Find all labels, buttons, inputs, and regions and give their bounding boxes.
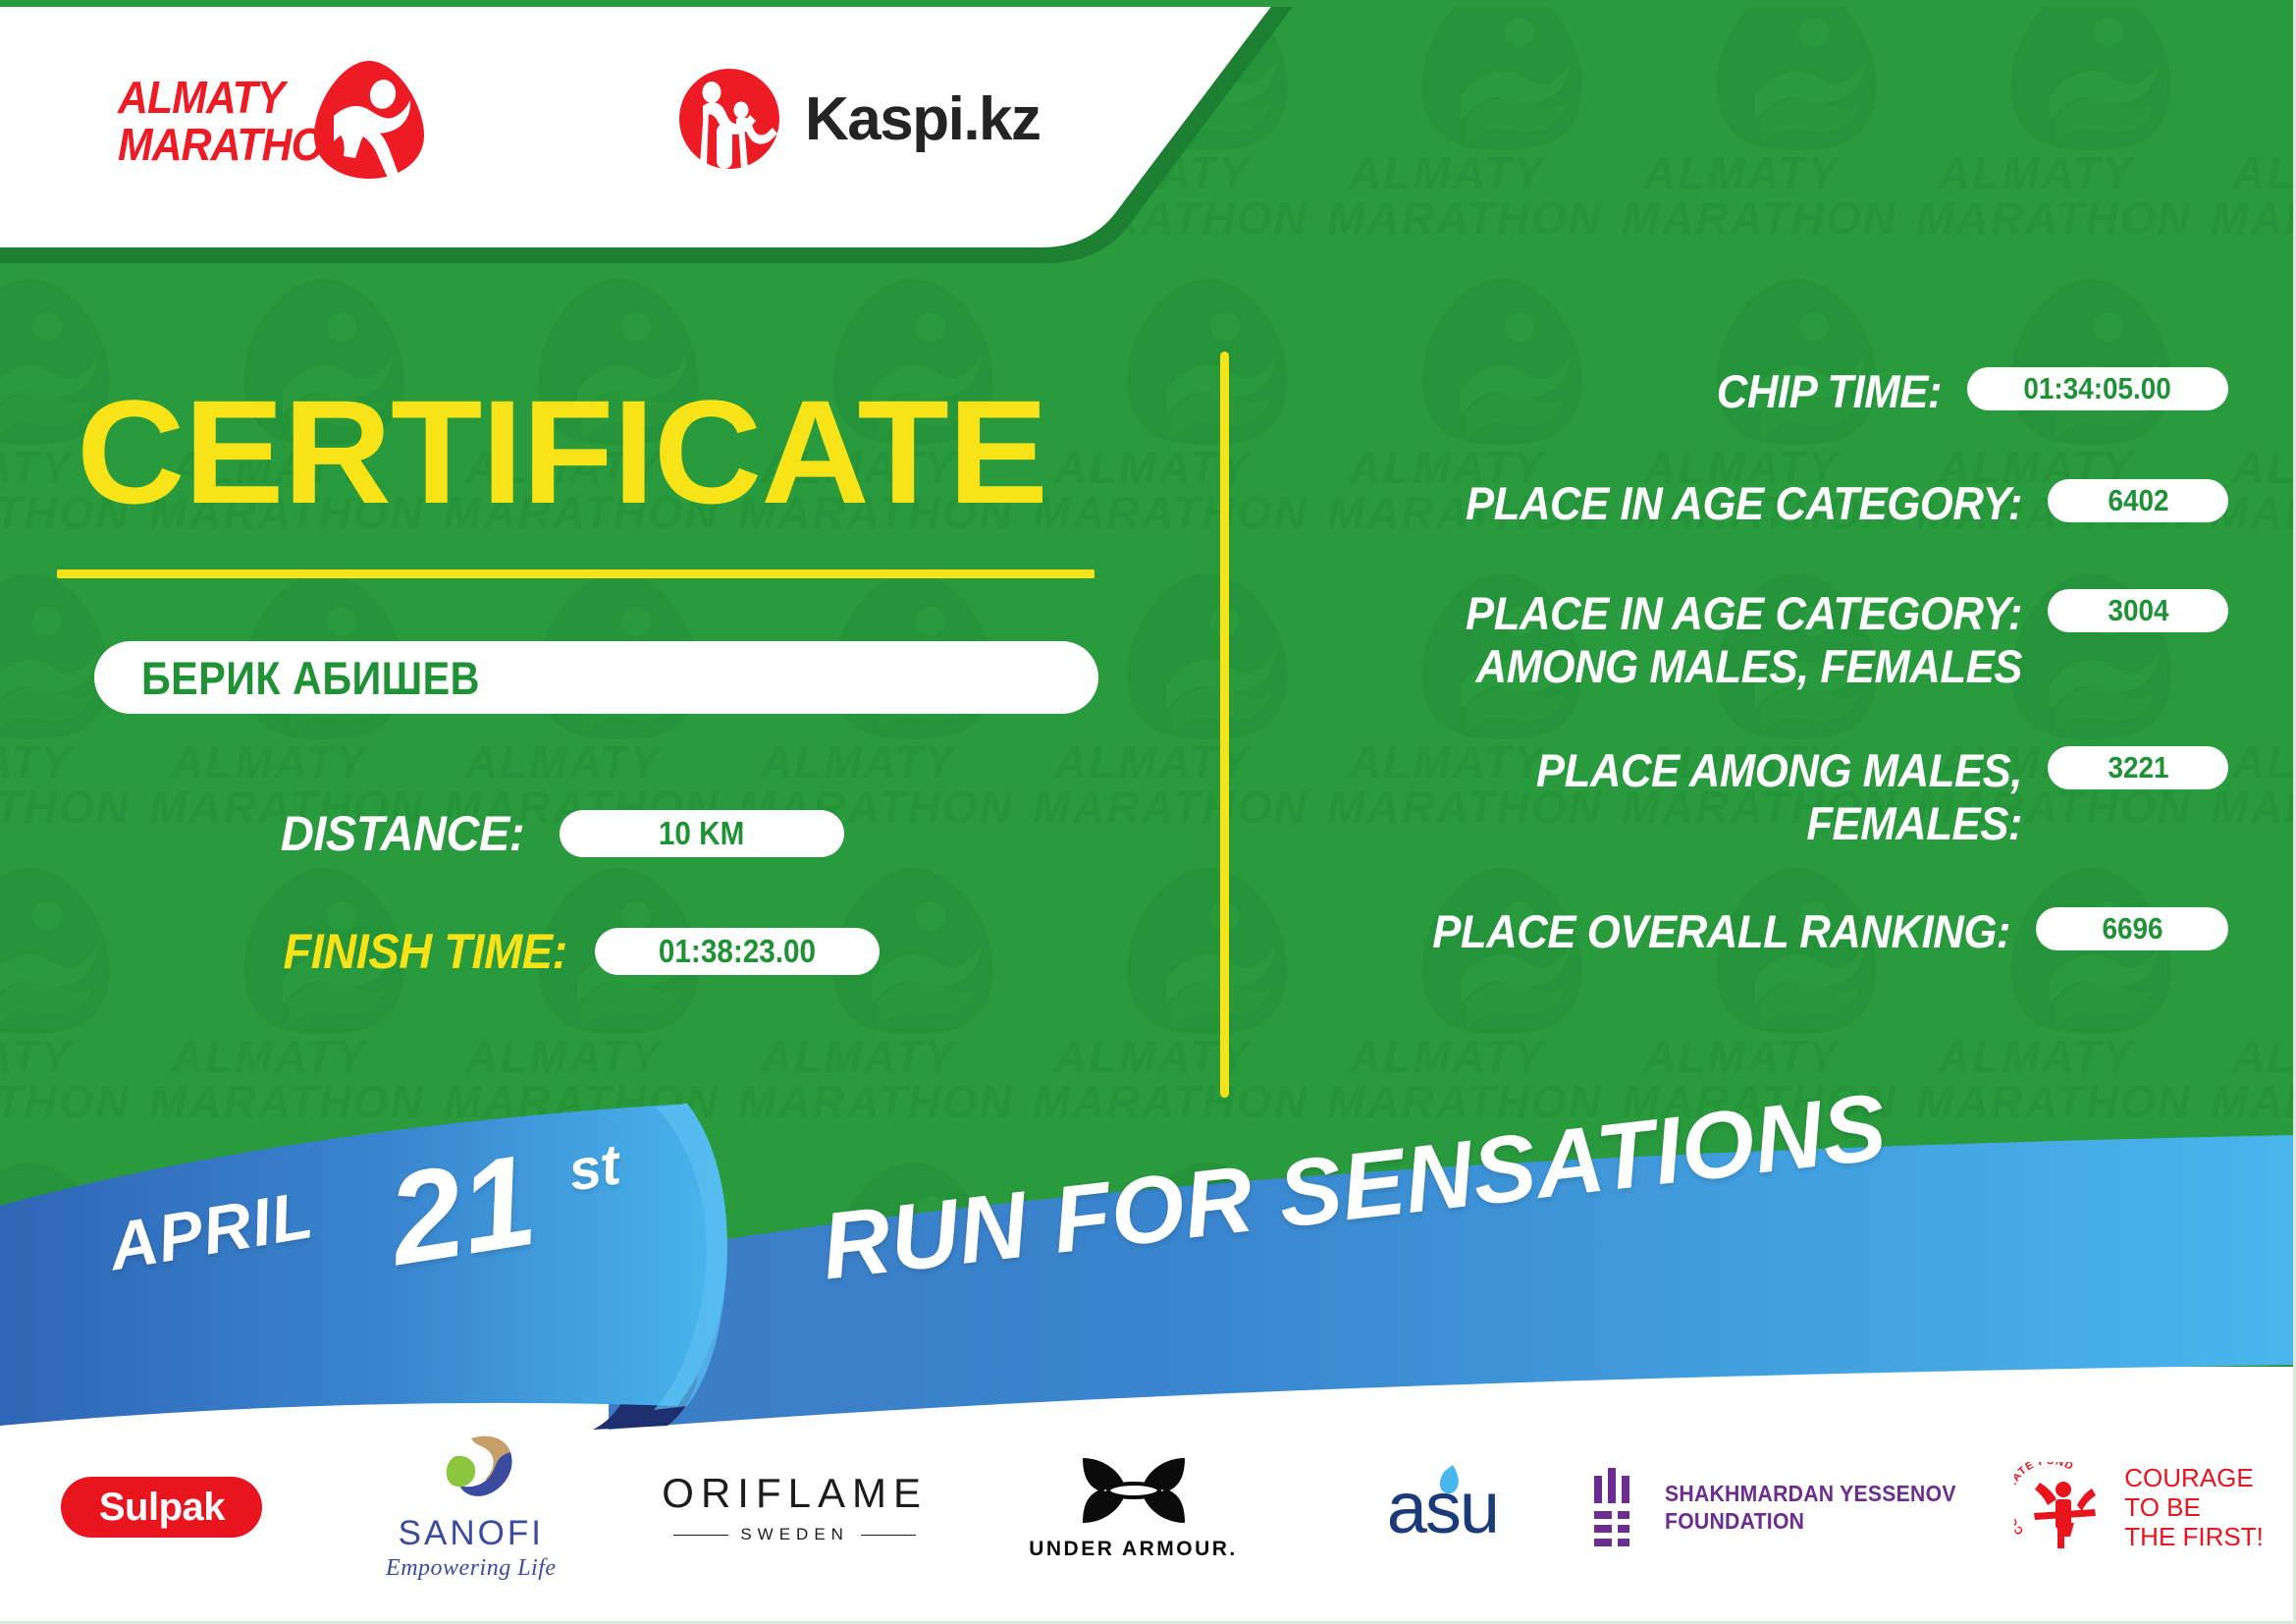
yessenov-mark-icon: [1590, 1468, 1647, 1546]
page-title: CERTIFICATE: [77, 378, 1047, 525]
oriflame-rule-left: [673, 1535, 728, 1536]
results-stats-panel: CHIP TIME: 01:34:05.00 PLACE IN AGE CATE…: [1266, 365, 2228, 998]
under-armour-mark-icon: [1069, 1454, 1199, 1527]
place-age-category-label: PLACE IN AGE CATEGORY:: [1319, 477, 2022, 530]
almaty-runner-icon: [310, 59, 428, 182]
chip-time-value: 01:34:05.00: [2024, 371, 2171, 406]
chip-time-label: CHIP TIME:: [1313, 365, 1942, 418]
place-overall-label: PLACE OVERALL RANKING:: [1318, 905, 2010, 958]
place-among-gender-label: PLACE AMONG MALES, FEMALES:: [1319, 744, 2022, 850]
kaspi-wordmark: Kaspi.kz: [805, 84, 1041, 154]
top-green-rule: [0, 0, 2293, 7]
place-age-category-value: 6402: [2108, 483, 2168, 518]
sponsor-oriflame: ORIFLAME SWEDEN: [618, 1470, 972, 1544]
finish-time-value-pill: 01:38:23.00: [595, 928, 880, 975]
place-age-category-gender-value-pill: 3004: [2048, 589, 2228, 632]
sponsor-bar: Sulpak SANOFI Empowering Life ORIFLAME S…: [0, 1414, 2296, 1600]
yessenov-label-line2: FOUNDATION: [1665, 1507, 1956, 1535]
place-age-category-value-pill: 6402: [2048, 479, 2228, 522]
yessenov-label-line1: SHAKHMARDAN YESSENOV: [1665, 1480, 1956, 1507]
sponsor-sanofi: SANOFI Empowering Life: [324, 1433, 618, 1582]
participant-name: БЕРИК АБИШЕВ: [141, 651, 480, 705]
sanofi-label: SANOFI: [386, 1514, 557, 1553]
sponsor-sulpak: Sulpak: [0, 1477, 324, 1538]
place-among-gender-value-pill: 3221: [2048, 746, 2228, 789]
kaspi-logo: Kaspi.kz: [677, 67, 1041, 171]
place-among-gender-row: PLACE AMONG MALES, FEMALES: 3221: [1266, 744, 2228, 850]
sponsor-under-armour: UNDER ARMOUR.: [972, 1454, 1296, 1561]
place-age-category-gender-label-line2: AMONG MALES, FEMALES: [1319, 640, 2022, 693]
place-age-category-gender-label-line1: PLACE IN AGE CATEGORY:: [1319, 587, 2022, 640]
distance-row: DISTANCE: 10 KM: [265, 805, 844, 862]
distance-value: 10 KM: [659, 815, 744, 852]
vertical-divider: [1220, 352, 1229, 1098]
place-age-category-gender-label: PLACE IN AGE CATEGORY: AMONG MALES, FEMA…: [1319, 587, 2022, 693]
chip-time-row: CHIP TIME: 01:34:05.00: [1266, 365, 2228, 418]
asu-drop-icon: [1438, 1464, 1462, 1497]
courage-runner-icon: CORPORATE FUND: [2014, 1462, 2112, 1552]
chip-time-value-pill: 01:34:05.00: [1967, 367, 2228, 410]
place-among-gender-value: 3221: [2108, 750, 2168, 785]
ribbon-day: 21: [379, 1125, 545, 1294]
courage-label-line2: TO BE: [2124, 1492, 2264, 1522]
oriflame-tagline: SWEDEN: [740, 1525, 849, 1544]
title-underline: [57, 569, 1095, 578]
kaspi-mark-icon: [677, 67, 781, 171]
distance-label: DISTANCE:: [281, 805, 524, 862]
ribbon-day-suffix: st: [564, 1131, 624, 1204]
almaty-marathon-logo: ALMATY MARATHON: [118, 57, 442, 185]
sanofi-tagline: Empowering Life: [386, 1555, 557, 1582]
sponsor-courage-to-be-the-first: CORPORATE FUND COURAGE TO BE THE FIRST!: [1982, 1462, 2296, 1552]
sponsor-yessenov-foundation: SHAKHMARDAN YESSENOV FOUNDATION: [1589, 1468, 1982, 1546]
oriflame-label: ORIFLAME: [662, 1470, 928, 1517]
sponsor-asu: asu: [1295, 1466, 1589, 1549]
sanofi-mark-icon: [426, 1433, 516, 1507]
sulpak-label: Sulpak: [99, 1486, 225, 1530]
finish-time-value: 01:38:23.00: [659, 933, 816, 970]
place-age-category-row: PLACE IN AGE CATEGORY: 6402: [1266, 477, 2228, 530]
place-age-category-gender-row: PLACE IN AGE CATEGORY: AMONG MALES, FEMA…: [1266, 587, 2228, 693]
finish-time-label: FINISH TIME:: [283, 923, 566, 980]
place-overall-row: PLACE OVERALL RANKING: 6696: [1266, 905, 2228, 958]
place-among-gender-label-line1: PLACE AMONG MALES,: [1319, 744, 2022, 797]
place-age-category-gender-value: 3004: [2108, 593, 2168, 628]
finish-time-row: FINISH TIME: 01:38:23.00: [265, 923, 880, 980]
participant-name-field: БЕРИК АБИШЕВ: [94, 641, 1098, 714]
place-overall-value: 6696: [2102, 911, 2163, 947]
sulpak-logo: Sulpak: [61, 1477, 262, 1538]
place-overall-value-pill: 6696: [2036, 907, 2228, 950]
place-among-gender-label-line2: FEMALES:: [1319, 797, 2022, 850]
under-armour-label: UNDER ARMOUR.: [1029, 1538, 1238, 1561]
courage-label-line1: COURAGE: [2124, 1463, 2264, 1492]
distance-value-pill: 10 KM: [560, 810, 844, 857]
oriflame-rule-right: [861, 1535, 916, 1536]
courage-label-line3: THE FIRST!: [2124, 1522, 2264, 1551]
certificate-canvas: ALMATY MARATHON: [0, 0, 2296, 1624]
